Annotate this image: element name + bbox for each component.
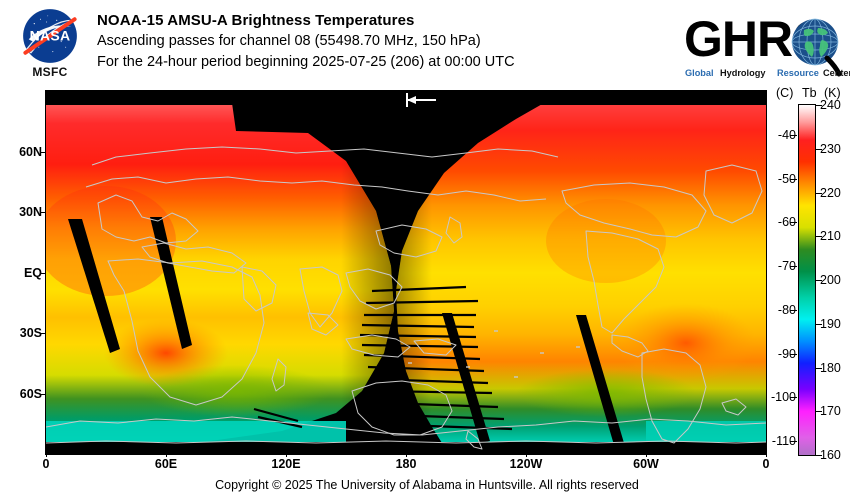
colorbar-kelvin-label: 230 bbox=[820, 142, 841, 156]
colorbar-kelvin-tick bbox=[815, 411, 822, 412]
plot-frame bbox=[45, 90, 767, 455]
colorbar-celsius-tick bbox=[790, 179, 797, 180]
nasa-logo: NASA MSFC bbox=[14, 6, 86, 84]
colorbar-kelvin-tick bbox=[815, 324, 822, 325]
colorbar-celsius-tick bbox=[790, 222, 797, 223]
colorbar-kelvin-tick bbox=[815, 105, 822, 106]
globe-icon bbox=[792, 19, 838, 65]
colorbar-kelvin-label: 180 bbox=[820, 361, 841, 375]
colorbar-kelvin-label: 220 bbox=[820, 186, 841, 200]
y-axis-tick bbox=[40, 394, 45, 395]
page-period: For the 24-hour period beginning 2025-07… bbox=[97, 52, 677, 73]
colorbar: (C) Tb (K) 240230220210200190180170160-4… bbox=[776, 86, 854, 462]
svg-text:Hydrology: Hydrology bbox=[720, 68, 766, 78]
header: NASA MSFC NOAA-15 AMSU-A Brightness Temp… bbox=[0, 0, 854, 88]
copyright-text: Copyright © 2025 The University of Alaba… bbox=[0, 478, 854, 492]
x-axis-label: 60E bbox=[155, 457, 177, 471]
x-axis-label: 0 bbox=[43, 457, 50, 471]
colorbar-kelvin-tick bbox=[815, 280, 822, 281]
y-axis: 60N30NEQ30S60S bbox=[0, 90, 42, 455]
map-plot bbox=[45, 90, 767, 455]
colorbar-kelvin-tick bbox=[815, 149, 822, 150]
colorbar-unit-celsius: (C) bbox=[776, 86, 793, 100]
ghrc-tagline: Global Hydrology Resource Center bbox=[685, 68, 850, 78]
colorbar-kelvin-tick bbox=[815, 193, 822, 194]
colorbar-kelvin-label: 190 bbox=[820, 317, 841, 331]
colorbar-celsius-tick bbox=[790, 135, 797, 136]
colorbar-gradient-box bbox=[798, 104, 816, 456]
x-axis-tick bbox=[46, 452, 47, 457]
y-axis-label: 60N bbox=[19, 145, 42, 159]
brightness-temperature-map bbox=[46, 91, 766, 454]
colorbar-celsius-tick bbox=[790, 354, 797, 355]
x-axis-label: 0 bbox=[763, 457, 770, 471]
colorbar-kelvin-tick bbox=[815, 236, 822, 237]
y-axis-tick bbox=[40, 333, 45, 334]
x-axis: 060E120E180120W60W0 bbox=[45, 457, 767, 477]
x-axis-tick bbox=[286, 452, 287, 457]
colorbar-celsius-tick bbox=[790, 441, 797, 442]
colorbar-celsius-tick bbox=[790, 266, 797, 267]
colorbar-kelvin-label: 160 bbox=[820, 448, 841, 462]
y-axis-tick bbox=[40, 212, 45, 213]
colorbar-celsius-tick bbox=[790, 397, 797, 398]
colorbar-kelvin-label: 200 bbox=[820, 273, 841, 287]
svg-text:Resource: Resource bbox=[777, 68, 819, 78]
svg-text:NASA: NASA bbox=[30, 27, 71, 43]
y-axis-label: 30S bbox=[20, 326, 42, 340]
x-axis-label: 180 bbox=[396, 457, 417, 471]
nasa-center-label: MSFC bbox=[14, 65, 86, 79]
colorbar-kelvin-tick bbox=[815, 455, 822, 456]
page-title: NOAA-15 AMSU-A Brightness Temperatures bbox=[97, 10, 677, 31]
x-axis-label: 120E bbox=[271, 457, 300, 471]
title-block: NOAA-15 AMSU-A Brightness Temperatures A… bbox=[97, 10, 677, 73]
colorbar-gradient bbox=[799, 105, 815, 455]
y-axis-label: 60S bbox=[20, 387, 42, 401]
y-axis-tick bbox=[40, 152, 45, 153]
colorbar-celsius-tick bbox=[790, 310, 797, 311]
ghrc-logo: GHRC Global Hydrology Resource Center bbox=[682, 6, 850, 82]
nasa-meatball-icon: NASA bbox=[22, 8, 78, 64]
page-subtitle: Ascending passes for channel 08 (55498.7… bbox=[97, 31, 677, 52]
x-axis-tick bbox=[406, 452, 407, 457]
x-axis-tick bbox=[646, 452, 647, 457]
x-axis-tick bbox=[766, 452, 767, 457]
colorbar-kelvin-label: 240 bbox=[820, 98, 841, 112]
colorbar-kelvin-label: 210 bbox=[820, 229, 841, 243]
colorbar-kelvin-tick bbox=[815, 368, 822, 369]
colorbar-variable: Tb bbox=[802, 86, 817, 100]
svg-text:Center: Center bbox=[823, 68, 850, 78]
x-axis-label: 120W bbox=[510, 457, 543, 471]
x-axis-label: 60W bbox=[633, 457, 659, 471]
x-axis-tick bbox=[166, 452, 167, 457]
colorbar-kelvin-label: 170 bbox=[820, 404, 841, 418]
x-axis-tick bbox=[526, 452, 527, 457]
y-axis-tick bbox=[40, 273, 45, 274]
y-axis-label: 30N bbox=[19, 205, 42, 219]
svg-text:Global: Global bbox=[685, 68, 714, 78]
